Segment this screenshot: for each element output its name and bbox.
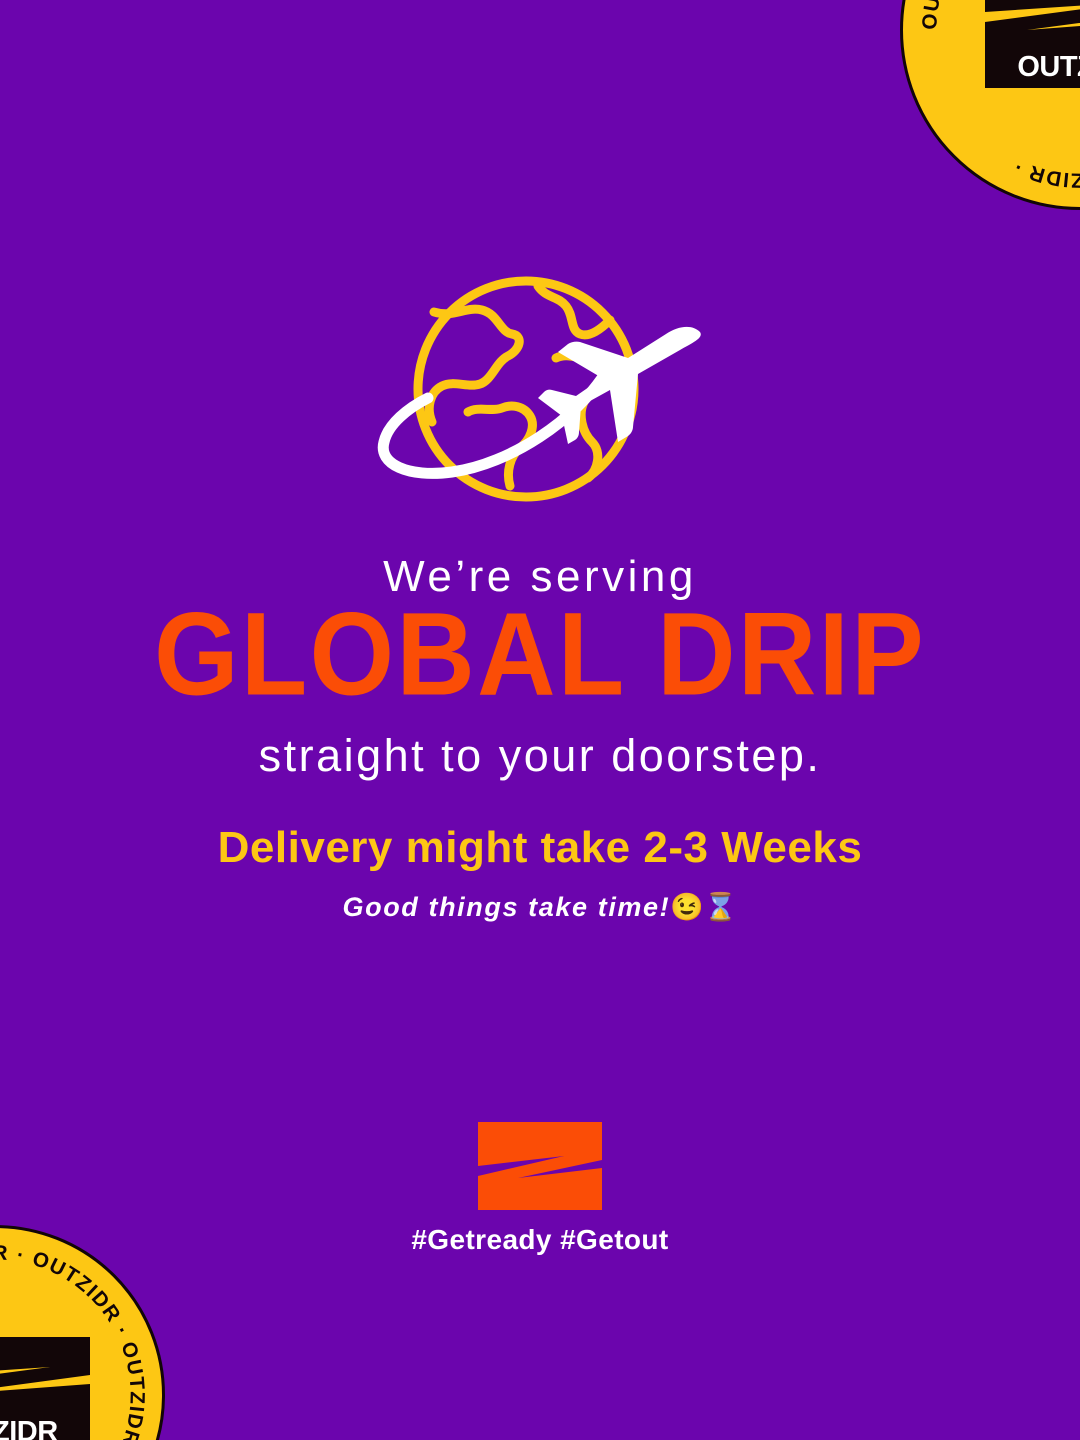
badge-bottom-left-core: OUTZIDR bbox=[0, 1337, 90, 1440]
delivery-emoji: 😉⌛ bbox=[670, 892, 737, 922]
delivery-subtext-text: Good things take time! bbox=[343, 892, 671, 922]
globe-with-airplane-icon bbox=[370, 276, 710, 502]
headline-text: GLOBAL DRIP bbox=[0, 609, 1080, 701]
delivery-note-block: Delivery might take 2-3 Weeks Good thing… bbox=[0, 822, 1080, 923]
delivery-subtext-wrap: Good things take time!😉⌛ bbox=[0, 891, 1080, 923]
main-copy-block: We’re serving GLOBAL DRIP straight to yo… bbox=[0, 552, 1080, 780]
badge-top-right-wordmark: OUTZIDR bbox=[1017, 53, 1080, 82]
badge-top-right-core: OUTZIDR bbox=[985, 0, 1080, 88]
footer-logo-block: #Getready #Getout bbox=[0, 1122, 1080, 1256]
badge-bottom-left: OUTZIDR · OUTZIDR · OUTZIDR · OUTZIDR · … bbox=[0, 1225, 165, 1440]
headline-inner: GLOBAL DRIP bbox=[154, 596, 926, 714]
subline-text: straight to your doorstep. bbox=[0, 731, 1080, 781]
z-logo-icon bbox=[478, 1122, 602, 1210]
footer-hashtags-text: #Getready #Getout bbox=[0, 1224, 1080, 1256]
poster-canvas: OUTZIDR · OUTZIDR · OUTZIDR · OUTZIDR · … bbox=[0, 0, 1080, 1440]
delivery-headline-text: Delivery might take 2-3 Weeks bbox=[0, 822, 1080, 875]
badge-bottom-left-wordbar: OUTZIDR bbox=[0, 1413, 90, 1440]
z-logo-icon bbox=[0, 1337, 90, 1423]
badge-bottom-left-wordmark: OUTZIDR bbox=[0, 1418, 58, 1440]
hero-icon-wrap bbox=[0, 276, 1080, 502]
badge-top-right-wordbar: OUTZIDR bbox=[985, 48, 1080, 88]
badge-top-right: OUTZIDR · OUTZIDR · OUTZIDR · OUTZIDR · … bbox=[900, 0, 1080, 210]
